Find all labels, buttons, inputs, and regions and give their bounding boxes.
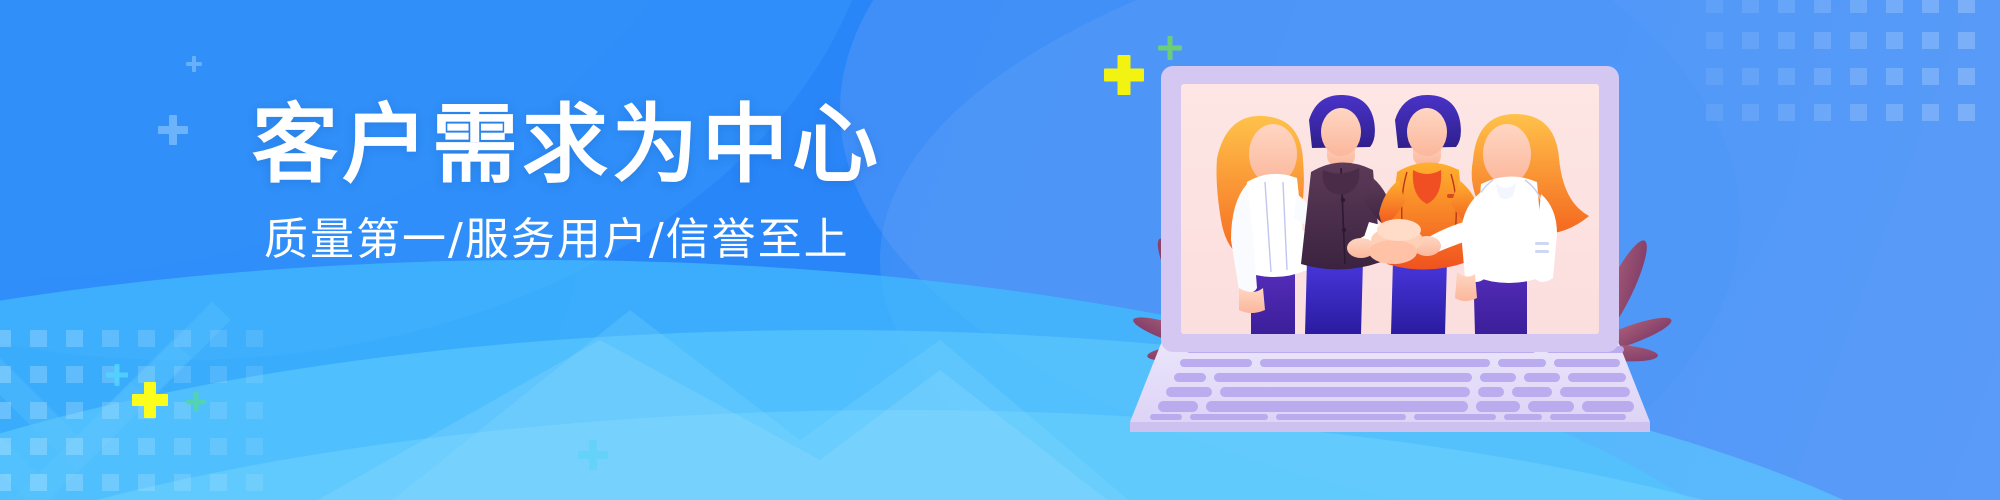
grid-dot: [66, 438, 83, 455]
grid-dot: [0, 474, 11, 491]
grid-dot: [66, 474, 83, 491]
grid-dot: [210, 438, 227, 455]
grid-dot: [102, 474, 119, 491]
chevron-shape-2: [0, 205, 191, 500]
grid-dot: [1814, 32, 1831, 49]
grid-dot: [210, 366, 227, 383]
grid-dot: [1922, 68, 1939, 85]
grid-dot: [102, 438, 119, 455]
grid-dot: [1958, 0, 1975, 13]
grid-dot: [1742, 68, 1759, 85]
grid-dot: [0, 438, 11, 455]
grid-dot: [1958, 104, 1975, 121]
grid-dot: [30, 330, 47, 347]
grid-dot: [138, 330, 155, 347]
promo-banner: 客户需求为中心 质量第一/服务用户/信誉至上: [0, 0, 2000, 500]
grid-dot: [1706, 104, 1723, 121]
grid-dot: [1850, 32, 1867, 49]
banner-text-block: 客户需求为中心 质量第一/服务用户/信誉至上: [252, 100, 872, 265]
grid-dot: [1742, 104, 1759, 121]
grid-dot: [1814, 68, 1831, 85]
grid-dot: [0, 402, 11, 419]
grid-dot: [210, 402, 227, 419]
grid-dot: [246, 330, 263, 347]
grid-dot: [1886, 104, 1903, 121]
grid-dot: [138, 366, 155, 383]
grid-dot: [1706, 32, 1723, 49]
dot-grid-bottom-left: [0, 330, 294, 500]
plus-icon-green-small: [1158, 36, 1182, 60]
grid-dot: [1778, 68, 1795, 85]
grid-dot: [1850, 0, 1867, 13]
grid-dot: [66, 366, 83, 383]
grid-dot: [1886, 68, 1903, 85]
grid-dot: [1814, 0, 1831, 13]
grid-dot: [1742, 0, 1759, 13]
grid-dot: [102, 366, 119, 383]
grid-dot: [1958, 32, 1975, 49]
banner-subheadline: 质量第一/服务用户/信誉至上: [264, 216, 872, 264]
chevron-shape-3: [0, 247, 149, 500]
laptop-illustration: [1155, 62, 1625, 362]
grid-dot: [210, 330, 227, 347]
plus-icon-yellow-lower: [132, 382, 168, 418]
grid-dot: [0, 366, 11, 383]
grid-dot: [1742, 32, 1759, 49]
bg-wave-bottom-2: [0, 330, 2000, 500]
grid-dot: [66, 330, 83, 347]
grid-dot: [1886, 0, 1903, 13]
grid-dot: [174, 402, 191, 419]
grid-dot: [174, 330, 191, 347]
dot-grid-top-right: [1706, 0, 2000, 136]
grid-dot: [246, 366, 263, 383]
grid-dot: [174, 366, 191, 383]
grid-dot: [102, 330, 119, 347]
grid-dot: [0, 330, 11, 347]
grid-dot: [30, 438, 47, 455]
plus-icon-cyan-center: [578, 440, 608, 470]
grid-dot: [1778, 104, 1795, 121]
grid-dot: [1778, 32, 1795, 49]
grid-dot: [1706, 0, 1723, 13]
grid-dot: [1814, 104, 1831, 121]
plus-icon-light-top: [186, 56, 202, 72]
grid-dot: [1886, 32, 1903, 49]
grid-dot: [1922, 0, 1939, 13]
grid-dot: [174, 438, 191, 455]
grid-dot: [30, 402, 47, 419]
plus-icon-cyan-lower-2: [186, 392, 206, 412]
grid-dot: [66, 402, 83, 419]
grid-dot: [1850, 104, 1867, 121]
grid-dot: [102, 402, 119, 419]
mountain-chevron-shape: [380, 250, 1140, 500]
plus-icon-yellow-main: [1104, 55, 1144, 95]
grid-dot: [1922, 104, 1939, 121]
grid-dot: [246, 438, 263, 455]
grid-dot: [138, 438, 155, 455]
mountain-chevron-shape-2: [300, 300, 1120, 500]
plus-icon-cyan-lower: [106, 364, 128, 386]
grid-dot: [174, 474, 191, 491]
grid-dot: [1958, 68, 1975, 85]
grid-dot: [210, 474, 227, 491]
grid-dot: [246, 474, 263, 491]
grid-dot: [1778, 0, 1795, 13]
grid-dot: [138, 474, 155, 491]
grid-dot: [138, 402, 155, 419]
plus-icon-light-mid: [158, 115, 188, 145]
grid-dot: [30, 474, 47, 491]
chevron-shape-1: [0, 167, 231, 472]
grid-dot: [1922, 32, 1939, 49]
grid-dot: [1706, 68, 1723, 85]
banner-headline: 客户需求为中心: [252, 100, 872, 190]
bg-wave-bottom-3: [0, 410, 2000, 500]
grid-dot: [1850, 68, 1867, 85]
grid-dot: [246, 402, 263, 419]
grid-dot: [30, 366, 47, 383]
